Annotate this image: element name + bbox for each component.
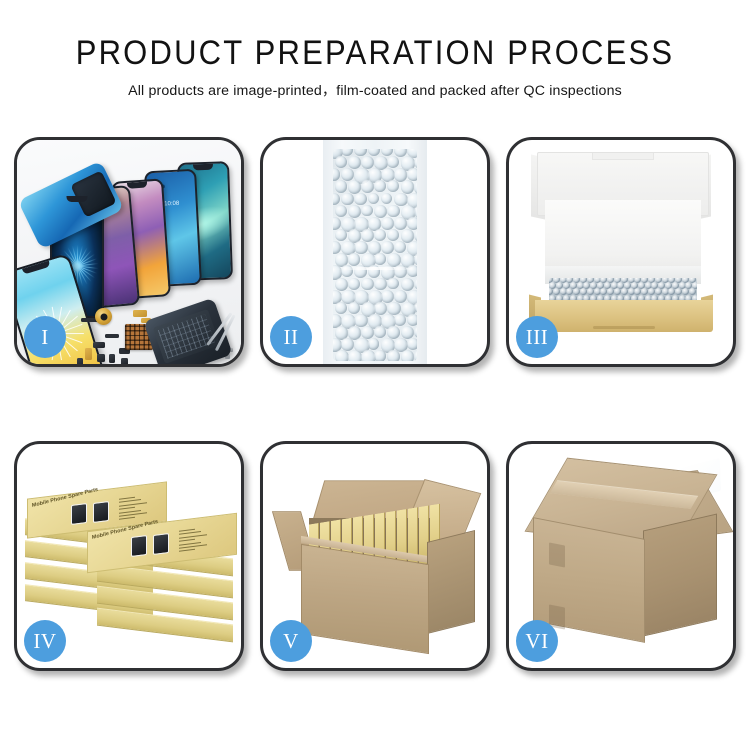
step-badge-3: III: [516, 316, 558, 358]
step-panel-carton-sealed[interactable]: VI: [506, 441, 736, 671]
step-panel-carton-filled[interactable]: V: [260, 441, 490, 671]
step-panel-boxed-stack[interactable]: Mobile Phone Spare PartsMobile Phone Spa…: [14, 441, 244, 671]
box-screen-graphic: [131, 535, 147, 557]
header: PRODUCT PREPARATION PROCESS All products…: [0, 0, 750, 100]
product-preparation-infographic: PRODUCT PREPARATION PROCESS All products…: [0, 0, 750, 750]
steps-grid: 10:08 I: [14, 137, 736, 671]
step-panel-product-parts[interactable]: 10:08 I: [14, 137, 244, 367]
step-badge-5: V: [270, 620, 312, 662]
box-screen-graphic: [153, 533, 169, 555]
box-screen-graphic: [71, 503, 87, 525]
page-subtitle: All products are image-printed，film-coat…: [0, 80, 750, 100]
step-badge-1: I: [24, 316, 66, 358]
step-badge-2: II: [270, 316, 312, 358]
step-panel-inner-box[interactable]: III: [506, 137, 736, 367]
step-panel-bubble-wrap[interactable]: II: [260, 137, 490, 367]
box-screen-graphic: [93, 501, 109, 523]
step-badge-4: IV: [24, 620, 66, 662]
step-badge-6: VI: [516, 620, 558, 662]
page-title: PRODUCT PREPARATION PROCESS: [0, 34, 750, 71]
